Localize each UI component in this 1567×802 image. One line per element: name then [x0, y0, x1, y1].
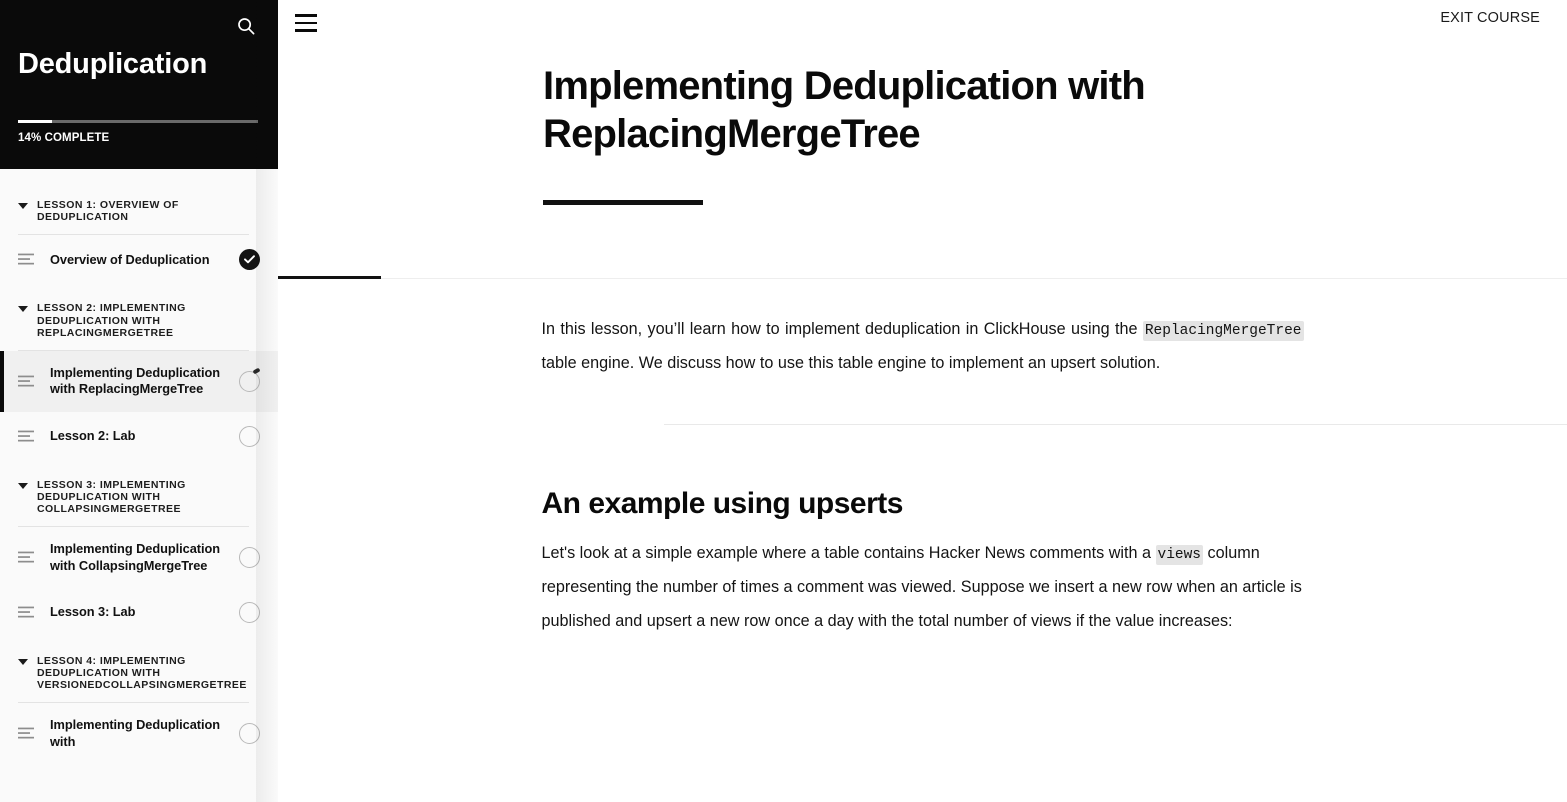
lesson-item-label: Lesson 2: Lab	[50, 428, 225, 444]
status-badge-progress	[239, 371, 260, 392]
status-badge-done	[239, 249, 260, 270]
lesson-group-header-1[interactable]: LESSON 2: IMPLEMENTING DEDUPLICATION WIT…	[0, 284, 278, 339]
lesson-item[interactable]: Implementing Deduplication with Replacin…	[0, 351, 278, 412]
lines-icon	[18, 727, 36, 740]
search-icon[interactable]	[232, 12, 260, 40]
chevron-down-icon	[18, 203, 28, 209]
lesson-group-header-2[interactable]: LESSON 3: IMPLEMENTING DEDUPLICATION WIT…	[0, 461, 278, 516]
main-content: EXIT COURSE Implementing Deduplication w…	[278, 0, 1567, 802]
section-divider	[664, 424, 1567, 425]
lines-icon	[18, 430, 36, 443]
lines-icon	[18, 606, 36, 619]
lines-icon	[18, 375, 36, 388]
progress-fill	[18, 120, 52, 123]
course-progress: 14% COMPLETE	[18, 120, 258, 144]
chevron-down-icon	[18, 659, 28, 665]
status-badge-todo	[239, 602, 260, 623]
lesson-group-header-3[interactable]: LESSON 4: IMPLEMENTING DEDUPLICATION WIT…	[0, 637, 278, 692]
progress-track	[18, 120, 258, 123]
check-icon	[244, 255, 255, 264]
lesson-group-label: LESSON 3: IMPLEMENTING DEDUPLICATION WIT…	[37, 479, 248, 516]
lesson-item-label: Overview of Deduplication	[50, 252, 225, 268]
lesson-item-label: Lesson 3: Lab	[50, 604, 225, 620]
top-bar: EXIT COURSE	[278, 0, 1567, 48]
lesson-item-label: Implementing Deduplication with	[50, 717, 225, 750]
course-title: Deduplication	[18, 48, 207, 81]
lines-icon	[18, 551, 36, 564]
exit-course-button[interactable]: EXIT COURSE	[1440, 10, 1540, 26]
course-sidebar: Deduplication 14% COMPLETE LESSON 1: OVE…	[0, 0, 278, 802]
hamburger-menu-icon[interactable]	[295, 9, 325, 37]
section-heading: An example using upserts	[542, 487, 1304, 521]
lesson-body: In this lesson, you’ll learn how to impl…	[278, 290, 1567, 638]
chevron-down-icon	[18, 483, 28, 489]
lesson-item[interactable]: Overview of Deduplication	[0, 235, 278, 284]
lesson-item-label: Implementing Deduplication with Replacin…	[50, 365, 225, 398]
status-badge-todo	[239, 426, 260, 447]
menu-bar-1	[295, 14, 317, 17]
lesson-item[interactable]: Lesson 3: Lab	[0, 588, 278, 637]
page-title: Implementing Deduplication with Replacin…	[543, 62, 1243, 158]
lesson-item-label: Implementing Deduplication with Collapsi…	[50, 541, 225, 574]
status-badge-todo	[239, 547, 260, 568]
chevron-down-icon	[18, 306, 28, 312]
lesson-group-label: LESSON 2: IMPLEMENTING DEDUPLICATION WIT…	[37, 302, 248, 339]
inline-code-views: views	[1156, 545, 1204, 565]
sidebar-header: Deduplication 14% COMPLETE	[0, 0, 278, 169]
menu-bar-3	[295, 29, 317, 32]
inline-code-replacingmergetree: ReplacingMergeTree	[1143, 321, 1304, 341]
section-paragraph: Let's look at a simple example where a t…	[542, 537, 1304, 638]
intro-paragraph: In this lesson, you’ll learn how to impl…	[542, 313, 1304, 380]
title-underline	[543, 200, 703, 205]
menu-bar-2	[295, 22, 317, 25]
lesson-group-label: LESSON 4: IMPLEMENTING DEDUPLICATION WIT…	[37, 655, 248, 692]
lines-icon	[18, 253, 36, 266]
section-text-1: Let's look at a simple example where a t…	[542, 544, 1156, 562]
course-player: Deduplication 14% COMPLETE LESSON 1: OVE…	[0, 0, 1567, 802]
lesson-progress-track	[278, 278, 1567, 279]
lesson-item[interactable]: Implementing Deduplication with	[0, 703, 278, 764]
lesson-group-label: LESSON 1: OVERVIEW OF DEDUPLICATION	[37, 199, 248, 223]
lesson-item[interactable]: Implementing Deduplication with Collapsi…	[0, 527, 278, 588]
lesson-progress-fill	[278, 276, 381, 279]
lesson-group-header-0[interactable]: LESSON 1: OVERVIEW OF DEDUPLICATION	[0, 181, 278, 223]
lesson-item[interactable]: Lesson 2: Lab	[0, 412, 278, 461]
progress-label: 14% COMPLETE	[18, 132, 258, 144]
lesson-list: LESSON 1: OVERVIEW OF DEDUPLICATION Over…	[0, 169, 278, 802]
status-badge-todo	[239, 723, 260, 744]
intro-text-2: table engine. We discuss how to use this…	[542, 354, 1161, 372]
intro-text-1: In this lesson, you’ll learn how to impl…	[542, 320, 1143, 338]
